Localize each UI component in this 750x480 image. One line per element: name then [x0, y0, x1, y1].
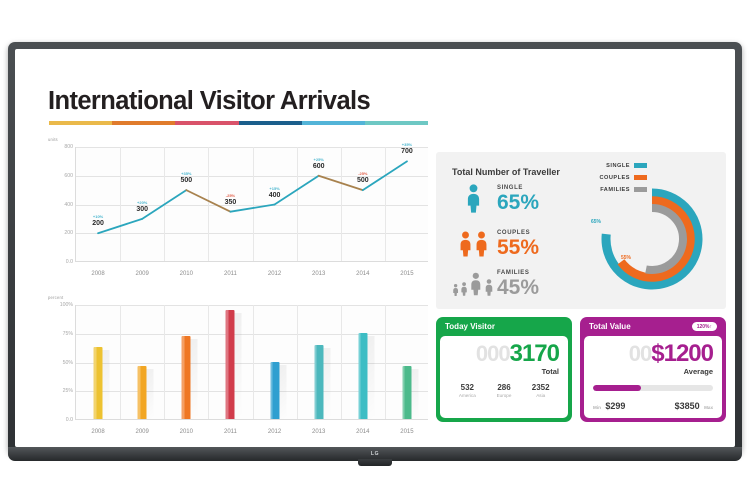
line-chart-xtick: 2013	[312, 271, 325, 277]
line-chart-point-delta: +25%	[314, 157, 324, 162]
total-value-card[interactable]: Total Value 120%↑ 00 $1200 Average Min	[580, 317, 726, 422]
bar-gloss	[138, 366, 141, 419]
bar-chart-xtick: 2010	[180, 429, 193, 435]
traveller-row-couples: COUPLES55%	[452, 230, 539, 258]
today-visitor-card-body: 000 3170 Total 532America286Europe2352As…	[440, 336, 568, 418]
line-chart-ytick: 800	[64, 144, 73, 150]
line-chart-point-delta: +20%	[137, 200, 147, 205]
bar-chart-gridline-v	[253, 305, 254, 419]
line-chart-series	[76, 147, 429, 262]
bar-chart-gridline-v	[297, 305, 298, 419]
line-chart-ytick: 0.0	[66, 259, 73, 265]
traveller-label: SINGLE	[497, 185, 539, 191]
today-visitor-value: 3170	[510, 342, 559, 366]
traveller-row-families: FAMILIES45%	[452, 270, 539, 298]
display-monitor: International Visitor Arrivals units 0.0…	[8, 42, 742, 454]
today-visitor-breakdown-item: 2352Asia	[522, 383, 559, 398]
bar-chart-bar[interactable]	[358, 333, 367, 419]
line-chart-y-axis-unit: units	[48, 137, 58, 142]
bar-chart-gridline-v	[164, 305, 165, 419]
line-chart-ytick: 600	[64, 173, 73, 179]
total-value-card-body: 00 $1200 Average Min $299 $3850 Max	[584, 336, 722, 418]
line-chart-xtick: 2015	[400, 271, 413, 277]
total-value-value-row: 00 $1200	[593, 342, 713, 366]
traveller-text: COUPLES55%	[497, 230, 539, 258]
breakdown-value: 532	[449, 383, 486, 392]
bar-chart-bar[interactable]	[226, 310, 235, 419]
traveller-text: SINGLE65%	[497, 185, 539, 213]
line-chart-point-value: 500	[180, 177, 192, 184]
bar-chart-xtick: 2015	[400, 429, 413, 435]
traveller-donut-chart: SINGLECOUPLESFAMILIES65%55%45%	[586, 157, 726, 307]
total-value-progress-bar	[593, 385, 713, 391]
screen: International Visitor Arrivals units 0.0…	[15, 49, 735, 447]
breakdown-label: Europe	[486, 393, 523, 398]
breakdown-label: America	[449, 393, 486, 398]
traveller-percent: 55%	[497, 237, 539, 258]
divider-segment-0	[49, 121, 112, 125]
divider-segment-3	[239, 121, 302, 125]
total-value-value: $1200	[651, 342, 713, 366]
line-chart-point-value: 600	[313, 163, 325, 170]
line-chart-point-delta: +35%	[402, 142, 412, 147]
today-visitor-value-row: 000 3170	[449, 342, 559, 366]
today-visitor-sub-label: Total	[449, 367, 559, 376]
line-chart: units 0.0200400600800200+10%2008300+20%2…	[45, 139, 430, 284]
line-chart-point-value: 700	[401, 148, 413, 155]
today-visitor-ghost-digits: 000	[476, 343, 510, 365]
line-chart-point-value: 500	[357, 177, 369, 184]
trend-up-arrow-icon: ↑	[710, 324, 713, 330]
bar-gloss	[182, 336, 185, 419]
total-value-max-tag: Max	[704, 405, 713, 410]
line-chart-point-value: 350	[225, 199, 237, 206]
family-icon	[452, 271, 494, 297]
divider-segment-5	[365, 121, 428, 125]
bar-chart-ytick: 0.0	[66, 417, 73, 423]
bar-chart-bar[interactable]	[270, 362, 279, 420]
traveller-percent: 65%	[497, 192, 539, 213]
page-title: International Visitor Arrivals	[48, 87, 370, 116]
total-value-progress-fill	[593, 385, 641, 391]
breakdown-value: 286	[486, 383, 523, 392]
traveller-panel: Total Number of Traveller SINGLE65%COUPL…	[436, 152, 726, 309]
line-chart-ytick: 400	[64, 202, 73, 208]
bar-chart-bar[interactable]	[314, 345, 323, 419]
bar-chart-bar[interactable]	[138, 366, 147, 419]
line-chart-point-delta: -25%	[226, 193, 235, 198]
total-value-sub-label: Average	[593, 367, 713, 376]
bar-chart-xtick: 2014	[356, 429, 369, 435]
bar-chart-bar[interactable]	[402, 366, 411, 419]
line-chart-point-value: 400	[269, 192, 281, 199]
divider-segment-4	[302, 121, 365, 125]
donut-legend-families: FAMILIES	[578, 187, 630, 193]
today-visitor-breakdown-item: 286Europe	[486, 383, 523, 398]
line-chart-xtick: 2012	[268, 271, 281, 277]
total-value-trend-badge: 120%↑	[692, 322, 717, 331]
donut-legend-couples: COUPLES	[578, 175, 630, 181]
line-chart-point-delta: +15%	[269, 186, 279, 191]
traveller-panel-title: Total Number of Traveller	[452, 167, 560, 177]
bar-chart-plot-area: 0.025%50%75%100%200820092010201120122013…	[75, 305, 428, 420]
bar-chart-ytick: 100%	[60, 302, 73, 308]
bar-gloss	[314, 345, 317, 419]
bar-gloss	[270, 362, 273, 420]
line-chart-xtick: 2014	[356, 271, 369, 277]
bar-chart-xtick: 2008	[91, 429, 104, 435]
line-chart-xtick: 2011	[224, 271, 237, 277]
bar-chart: percent 0.025%50%75%100%2008200920102011…	[45, 297, 430, 442]
breakdown-value: 2352	[522, 383, 559, 392]
traveller-row-single: SINGLE65%	[452, 184, 539, 213]
bar-chart-xtick: 2013	[312, 429, 325, 435]
bar-chart-ytick: 75%	[63, 331, 73, 337]
bar-chart-gridline-v	[120, 305, 121, 419]
donut-legend-swatch-families	[634, 187, 647, 192]
donut-arc-families[interactable]	[646, 208, 683, 270]
donut-legend-single: SINGLE	[578, 163, 630, 169]
bar-gloss	[402, 366, 405, 419]
today-visitor-breakdown-item: 532America	[449, 383, 486, 398]
title-divider	[49, 121, 428, 125]
bar-chart-bar[interactable]	[182, 336, 191, 419]
bar-chart-gridline-v	[341, 305, 342, 419]
bar-chart-gridline-v	[208, 305, 209, 419]
total-value-badge-text: 120%	[697, 324, 710, 330]
bar-chart-bar[interactable]	[94, 347, 103, 419]
bar-chart-ytick: 50%	[63, 360, 73, 366]
bar-chart-y-axis-unit: percent	[48, 295, 63, 300]
total-value-max: $3850	[675, 401, 700, 411]
divider-segment-2	[175, 121, 238, 125]
total-value-min: $299	[605, 401, 625, 411]
monitor-stand	[358, 459, 392, 466]
today-visitor-card-title: Today Visitor	[445, 322, 495, 331]
single-person-icon	[452, 184, 494, 213]
today-visitor-card[interactable]: Today Visitor 000 3170 Total 532America2…	[436, 317, 572, 422]
donut-legend-swatch-couples	[634, 175, 647, 180]
line-chart-point-value: 300	[136, 206, 148, 213]
donut-arc-label-single: 65%	[591, 219, 601, 225]
brand-logo: LG	[371, 451, 379, 457]
line-chart-point-delta: +35%	[181, 171, 191, 176]
line-chart-xtick: 2009	[136, 271, 149, 277]
couple-icon	[452, 231, 494, 257]
total-value-min-tag: Min	[593, 405, 601, 410]
breakdown-label: Asia	[522, 393, 559, 398]
bar-gloss	[358, 333, 361, 419]
line-chart-ytick: 200	[64, 230, 73, 236]
bar-chart-xtick: 2009	[136, 429, 149, 435]
divider-segment-1	[112, 121, 175, 125]
total-value-ghost-digits: 00	[629, 343, 651, 365]
line-chart-point-delta: -25%	[358, 171, 367, 176]
bar-chart-xtick: 2011	[224, 429, 237, 435]
bar-chart-xtick: 2012	[268, 429, 281, 435]
donut-arc-label-couples: 55%	[621, 255, 631, 261]
bar-gloss	[226, 310, 229, 419]
bar-chart-ytick: 25%	[63, 388, 73, 394]
today-visitor-breakdown: 532America286Europe2352Asia	[449, 383, 559, 398]
today-visitor-card-header: Today Visitor	[436, 317, 572, 336]
bar-chart-gridline-v	[385, 305, 386, 419]
donut-arc-label-families: 45%	[660, 265, 670, 271]
line-chart-xtick: 2010	[180, 271, 193, 277]
bar-gloss	[94, 347, 97, 419]
total-value-card-header: Total Value 120%↑	[580, 317, 726, 336]
line-chart-point-value: 200	[92, 220, 104, 227]
line-chart-xtick: 2008	[91, 271, 104, 277]
donut-legend-swatch-single	[634, 163, 647, 168]
total-value-minmax: Min $299 $3850 Max	[593, 396, 713, 414]
traveller-text: FAMILIES45%	[497, 270, 539, 298]
traveller-percent: 45%	[497, 277, 539, 298]
total-value-card-title: Total Value	[589, 322, 631, 331]
line-chart-point-delta: +10%	[93, 214, 103, 219]
line-chart-plot-area: 0.0200400600800200+10%2008300+20%2009500…	[75, 147, 428, 262]
